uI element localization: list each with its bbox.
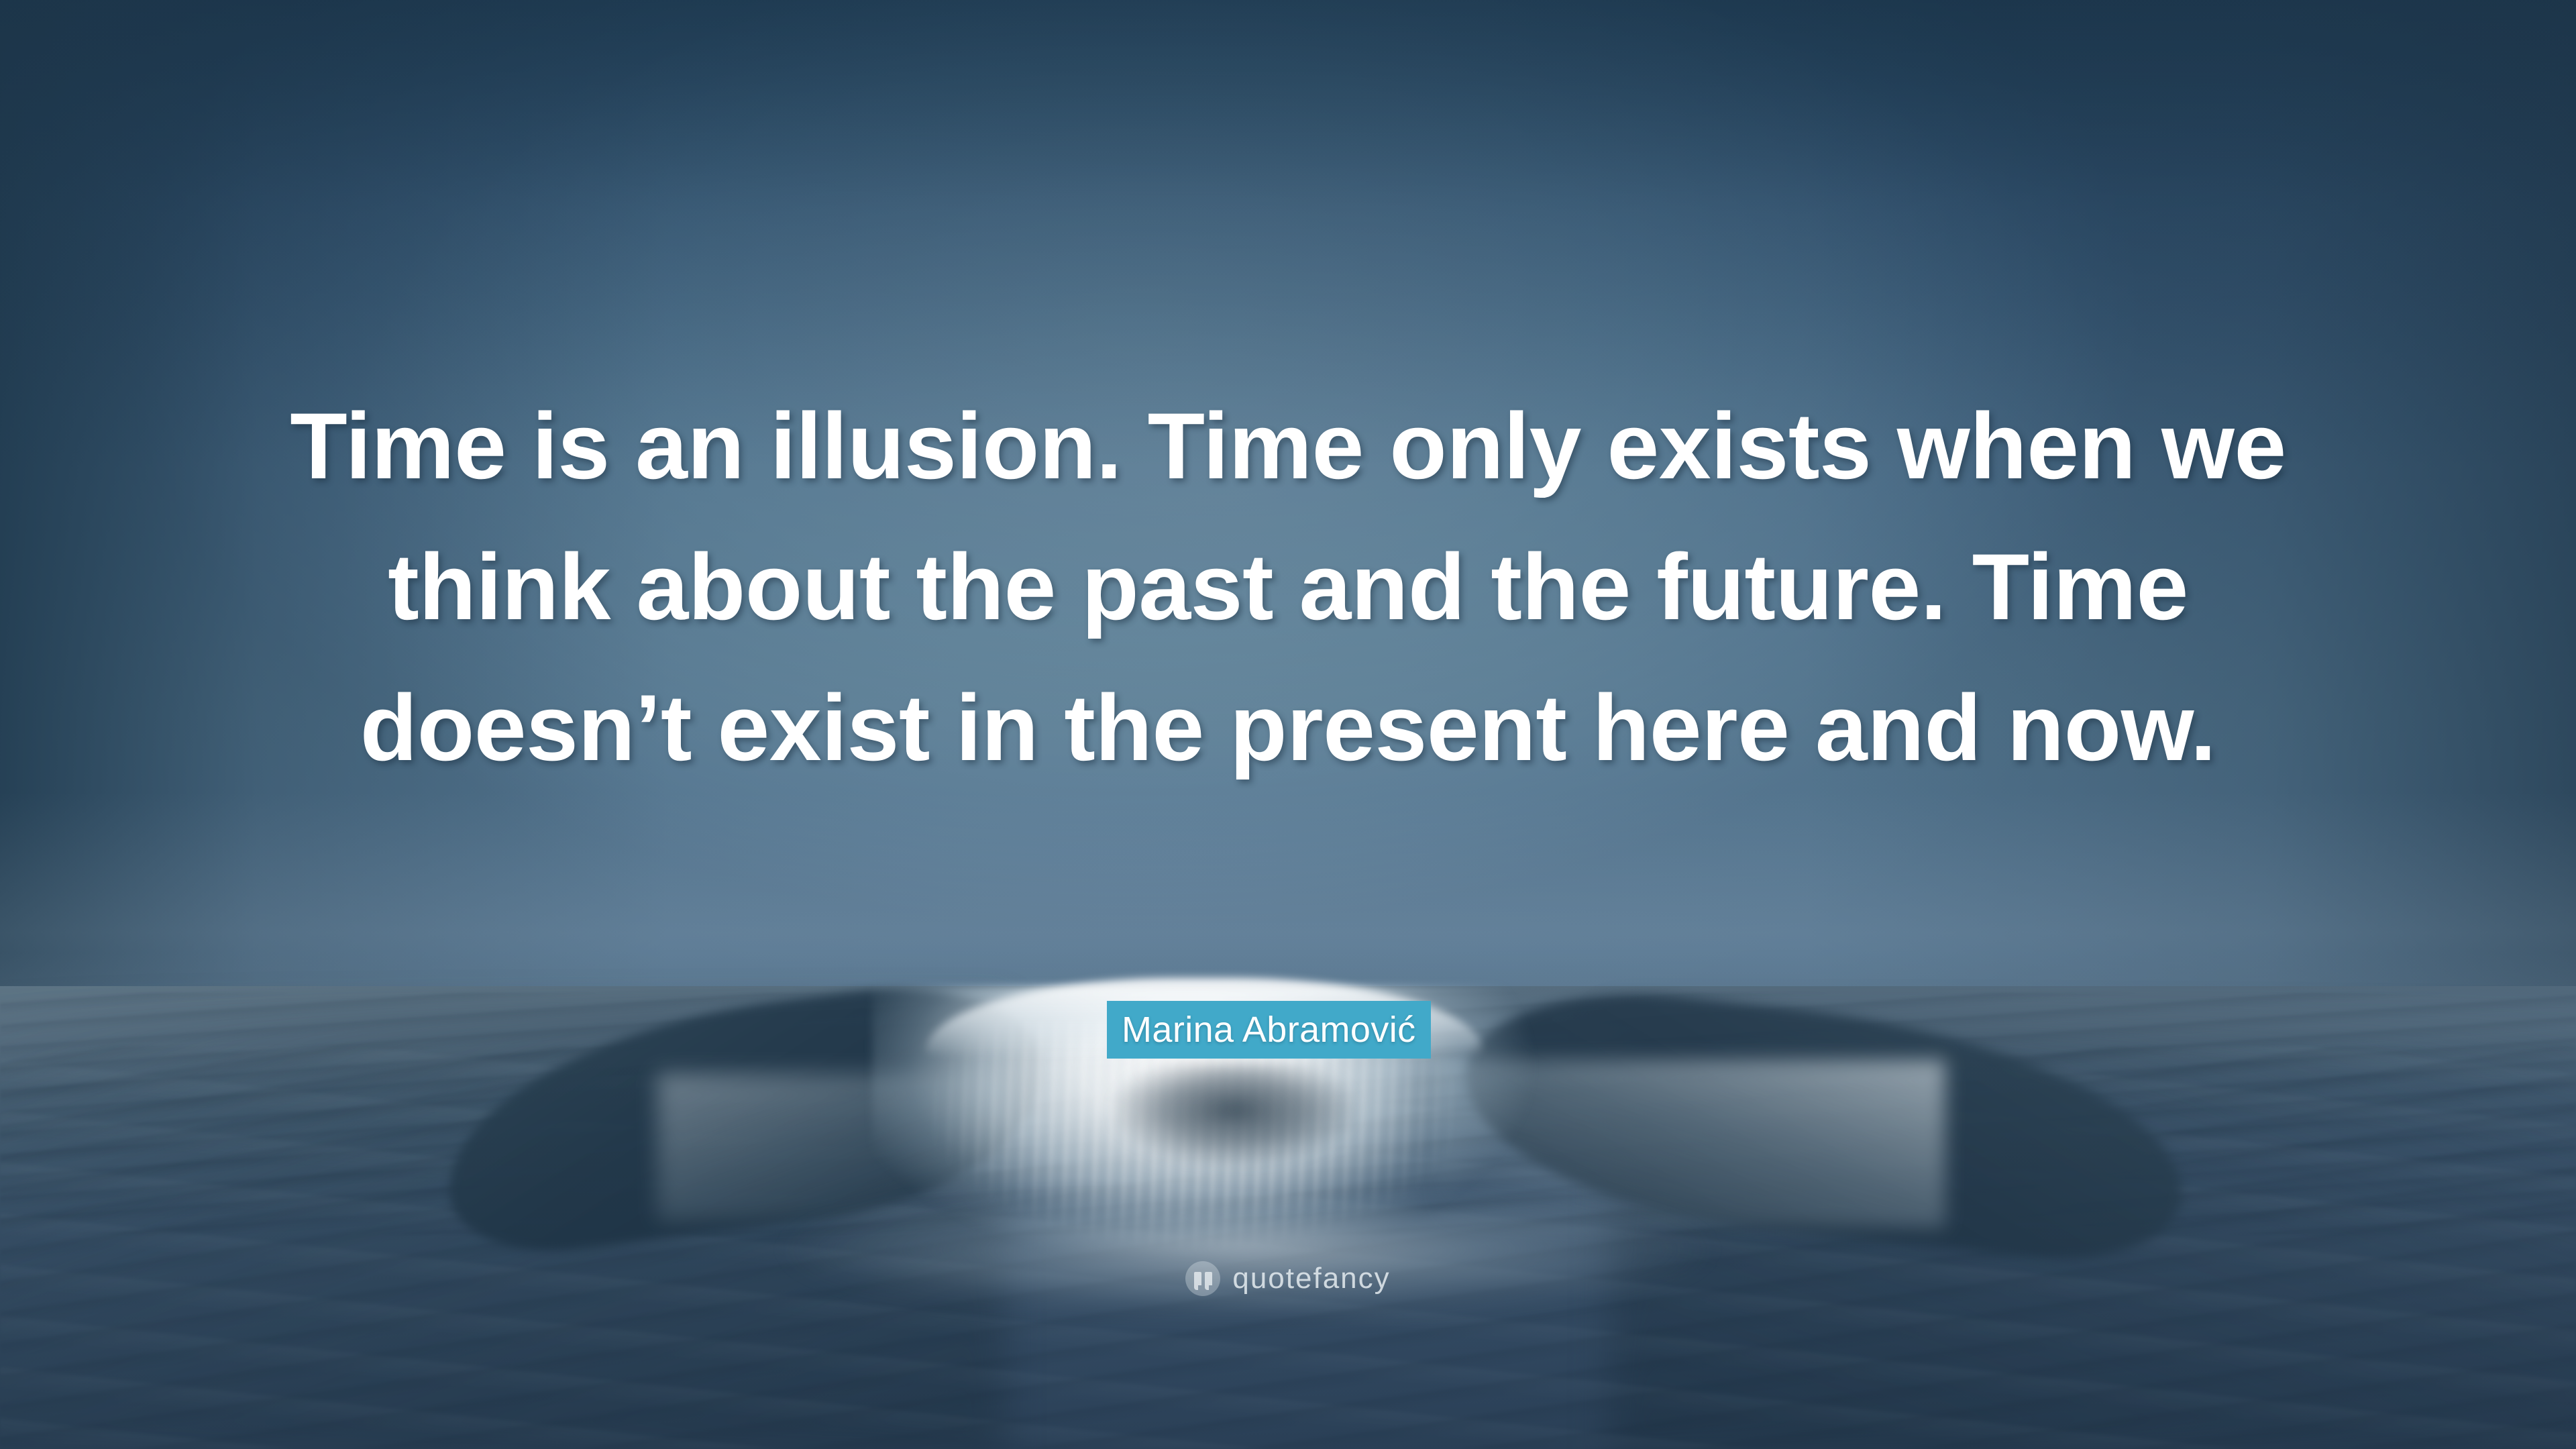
quote-text: Time is an illusion. Time only exists wh… <box>0 376 2576 798</box>
quote-poster: Time is an illusion. Time only exists wh… <box>0 0 2576 1449</box>
author-name: Marina Abramović <box>1122 1009 1416 1051</box>
wave-barrel-shadow <box>1114 1063 1355 1167</box>
author-badge[interactable]: Marina Abramović <box>1107 1001 1431 1059</box>
breaking-wave <box>0 939 2576 1315</box>
wave-whitewater <box>771 1207 1724 1328</box>
